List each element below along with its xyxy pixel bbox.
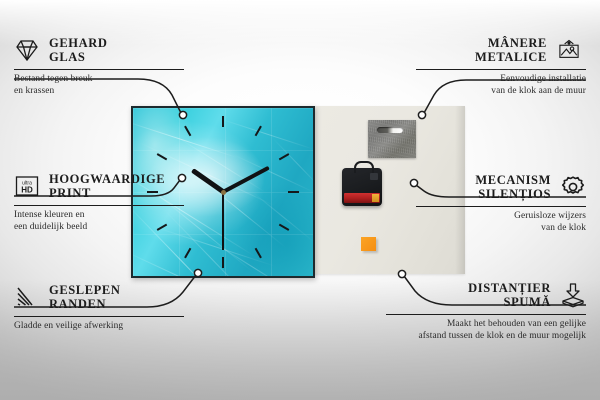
feature-title: DISTANȚIERSPUMĂ	[468, 281, 551, 310]
feature-manere-metalice: MÂNEREMETALICE Eenvoudige installatievan…	[416, 36, 586, 97]
feature-gehard-glas: GEHARDGLAS Bestand tegen breuken krassen	[14, 36, 184, 97]
hanger-texture	[368, 120, 416, 158]
spacer-arrow-icon	[560, 282, 586, 308]
movement-adjuster	[370, 173, 378, 180]
bevelled-edges-icon	[14, 284, 40, 310]
clock-tick	[222, 116, 224, 176]
hanger-slot	[377, 127, 403, 133]
feature-subtitle: Gladde en veilige afwerking	[14, 320, 184, 332]
clock-center-pin	[221, 190, 226, 195]
feature-rule	[14, 205, 184, 206]
picture-hanger-icon	[556, 37, 586, 63]
feature-title: MÂNEREMETALICE	[475, 36, 547, 65]
movement-hook	[354, 161, 374, 173]
feature-mecanism-silentios: MECANISMSILENȚIOS Geruisloze wijzersvan …	[416, 173, 586, 234]
feature-subtitle: Maakt het behouden van een gelijkeafstan…	[386, 318, 586, 343]
feature-geslepen-randen: GESLEPENRANDEN Gladde en veilige afwerki…	[14, 283, 184, 332]
metal-hanger	[368, 120, 416, 158]
second-hand	[222, 192, 224, 250]
feature-rule	[416, 69, 586, 70]
feature-subtitle: Eenvoudige installatievan de klok aan de…	[416, 73, 586, 98]
feature-title: HOOGWAARDIGEPRINT	[49, 172, 165, 201]
feature-subtitle: Geruisloze wijzersvan de klok	[416, 210, 586, 235]
diamond-icon	[14, 37, 40, 63]
feature-rule	[386, 314, 586, 315]
feature-hoogwaardige-print: ultra HD HOOGWAARDIGEPRINT Intense kleur…	[14, 172, 184, 233]
feature-rule	[14, 316, 184, 317]
feature-head: MÂNEREMETALICE	[416, 36, 586, 65]
feature-title: GEHARDGLAS	[49, 36, 107, 65]
feature-subtitle: Bestand tegen breuken krassen	[14, 73, 184, 98]
feature-subtitle: Intense kleuren eneen duidelijk beeld	[14, 209, 184, 234]
foam-spacer	[361, 237, 376, 251]
feature-rule	[14, 69, 184, 70]
feature-title: GESLEPENRANDEN	[49, 283, 121, 312]
feature-head: DISTANȚIERSPUMĂ	[386, 281, 586, 310]
feature-rule	[416, 206, 586, 207]
feature-head: MECANISMSILENȚIOS	[416, 173, 586, 202]
gear-icon	[560, 174, 586, 200]
feature-title: MECANISMSILENȚIOS	[475, 173, 551, 202]
feature-distantier-spuma: DISTANȚIERSPUMĂ Maakt het behouden van e…	[386, 281, 586, 342]
feature-head: GESLEPENRANDEN	[14, 283, 184, 312]
infographic-canvas: GEHARDGLAS Bestand tegen breuken krassen…	[0, 0, 600, 400]
ultra-hd-icon: ultra HD	[14, 173, 40, 199]
feature-head: GEHARDGLAS	[14, 36, 184, 65]
feature-head: ultra HD HOOGWAARDIGEPRINT	[14, 172, 184, 201]
svg-text:HD: HD	[21, 186, 33, 195]
clock-tick	[239, 191, 299, 193]
battery	[344, 193, 380, 203]
clock-movement	[342, 168, 382, 206]
